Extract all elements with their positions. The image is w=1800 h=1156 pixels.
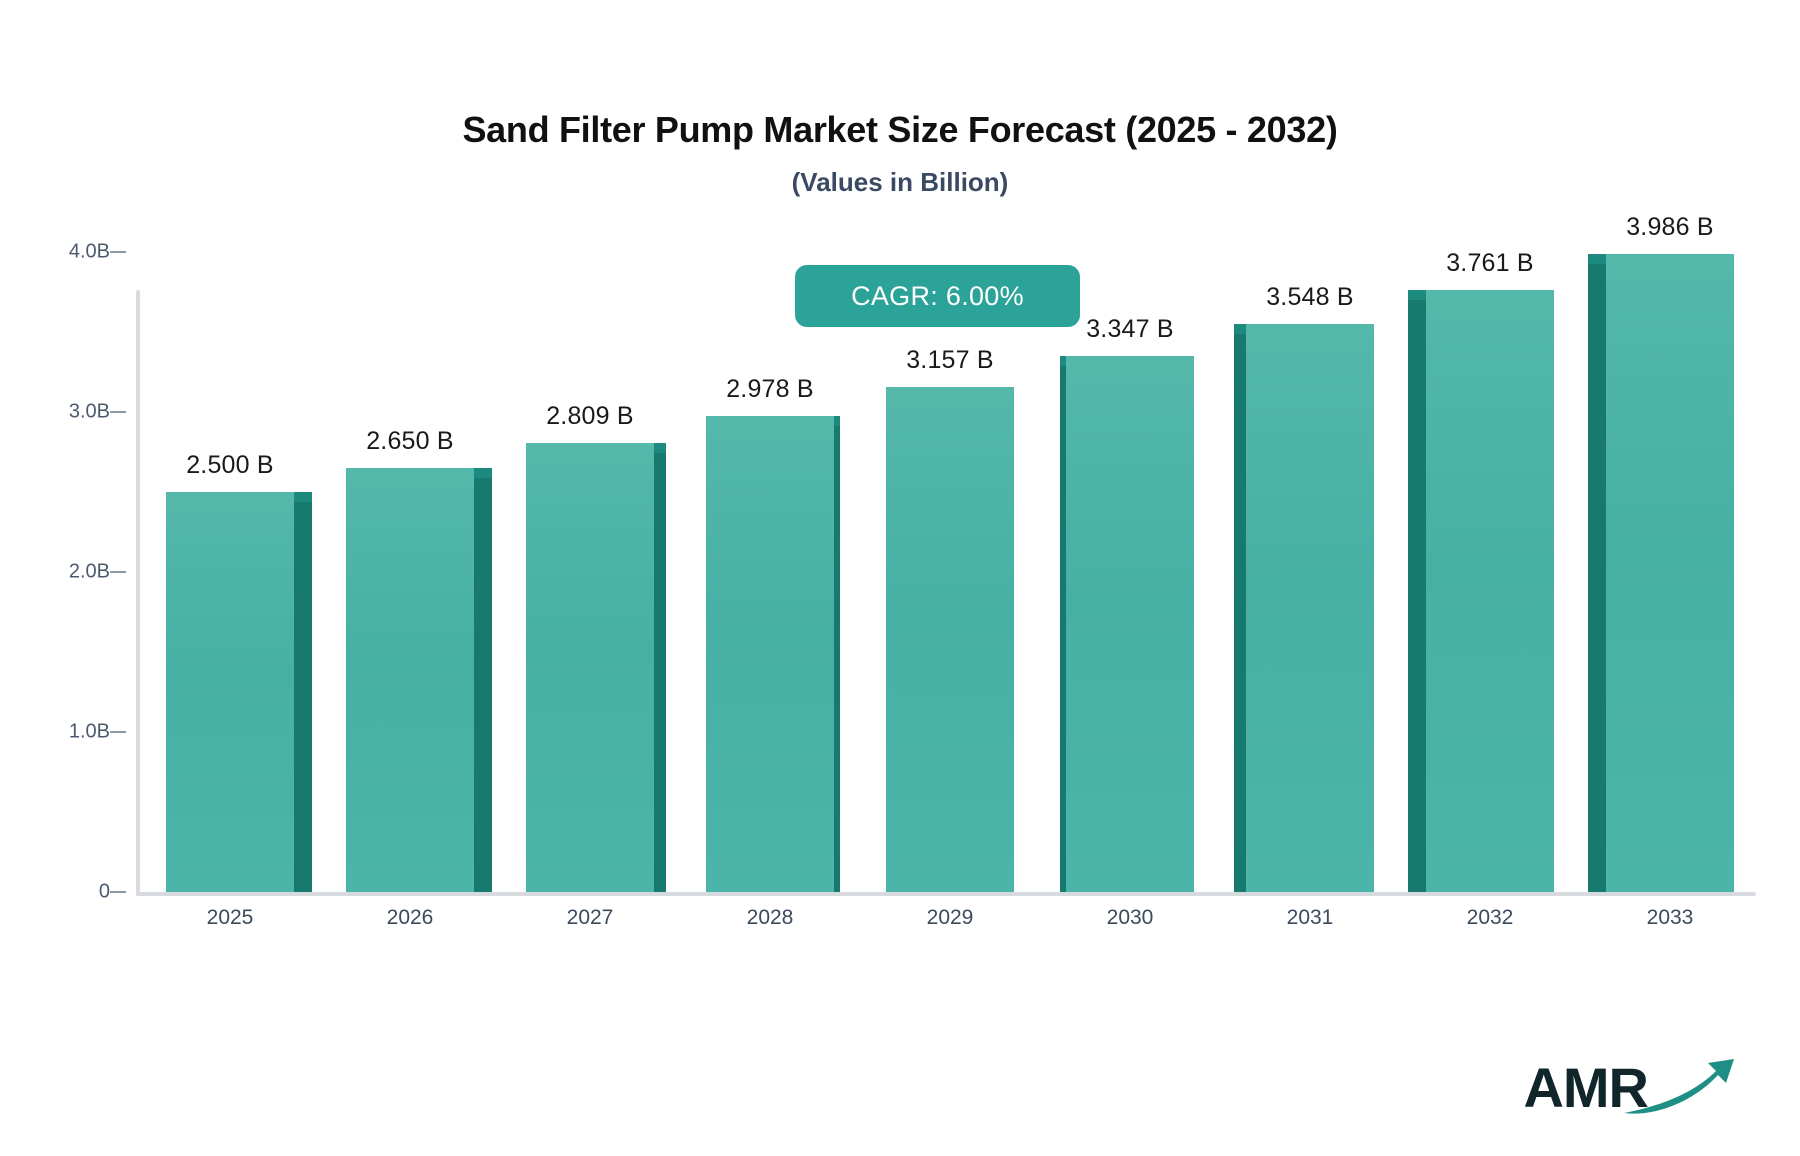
bar-top-bevel: [654, 443, 666, 453]
bar-value-label: 3.157 B: [886, 346, 1014, 375]
bar-top-bevel: [1060, 356, 1066, 366]
bar-front-face: [1606, 254, 1734, 892]
bar-top-bevel: [1234, 324, 1246, 334]
y-axis-tick-mark: [110, 891, 126, 893]
y-axis-tick-mark: [110, 251, 126, 253]
bar-top-bevel: [1408, 290, 1426, 300]
x-axis-tick-label: 2026: [350, 906, 470, 930]
x-axis-tick-label: 2033: [1610, 906, 1730, 930]
bar-side-face: [1408, 300, 1426, 892]
bar-2033: 3.986 B: [1606, 254, 1734, 892]
x-axis-tick-label: 2028: [710, 906, 830, 930]
y-axis-tick-label: 4.0B: [0, 241, 110, 264]
bar-side-face: [294, 502, 312, 892]
bar-side-face: [1060, 366, 1066, 892]
bar-top-bevel: [474, 468, 492, 478]
bar-side-face: [834, 426, 840, 892]
bar-side-face: [1234, 334, 1246, 892]
y-axis-tick-label: 1.0B: [0, 721, 110, 744]
x-axis-tick-label: 2027: [530, 906, 650, 930]
bar-2026: 2.650 B: [346, 468, 474, 892]
x-axis-tick-label: 2025: [170, 906, 290, 930]
bar-top-bevel: [834, 416, 840, 426]
growth-arrow-icon: [1622, 1057, 1752, 1124]
y-axis-tick-mark: [110, 731, 126, 733]
bar-series: 2.500 B2.650 B2.809 B2.978 B3.157 B3.347…: [140, 230, 1760, 892]
y-axis-tick-mark: [110, 411, 126, 413]
x-axis-tick-label: 2031: [1250, 906, 1370, 930]
x-axis-tick-label: 2029: [890, 906, 1010, 930]
y-axis-tick-mark: [110, 571, 126, 573]
bar-front-face: [1426, 290, 1554, 892]
bar-front-face: [166, 492, 294, 892]
bar-value-label: 3.986 B: [1606, 213, 1734, 242]
bar-side-face: [654, 453, 666, 892]
x-axis-line: [136, 892, 1756, 896]
bar-value-label: 2.978 B: [706, 375, 834, 404]
y-axis-tick-label: 0: [0, 881, 110, 904]
bar-side-face: [474, 478, 492, 892]
bar-front-face: [706, 416, 834, 892]
x-axis-tick-label: 2032: [1430, 906, 1550, 930]
bar-value-label: 2.500 B: [166, 451, 294, 480]
bar-2032: 3.761 B: [1426, 290, 1554, 892]
bar-2025: 2.500 B: [166, 492, 294, 892]
bar-value-label: 3.548 B: [1246, 283, 1374, 312]
bar-front-face: [346, 468, 474, 892]
bar-side-face: [1588, 264, 1606, 892]
x-axis-tick-label: 2030: [1070, 906, 1190, 930]
bar-top-bevel: [294, 492, 312, 502]
bar-2027: 2.809 B: [526, 443, 654, 892]
bar-front-face: [1246, 324, 1374, 892]
bar-value-label: 3.347 B: [1066, 315, 1194, 344]
bar-2029: 3.157 B: [886, 387, 1014, 892]
y-axis-tick-label: 2.0B: [0, 561, 110, 584]
bar-2031: 3.548 B: [1246, 324, 1374, 892]
y-axis-tick-label: 3.0B: [0, 401, 110, 424]
bar-2030: 3.347 B: [1066, 356, 1194, 892]
bar-value-label: 3.761 B: [1426, 249, 1554, 278]
bar-front-face: [1066, 356, 1194, 892]
bar-2028: 2.978 B: [706, 416, 834, 892]
bar-front-face: [886, 387, 1014, 892]
bar-top-bevel: [1588, 254, 1606, 264]
bar-value-label: 2.809 B: [526, 402, 654, 431]
amr-logo: AMR: [1523, 1051, 1752, 1124]
bar-front-face: [526, 443, 654, 892]
chart-plot-area: 4.0B3.0B2.0B1.0B0 2.500 B2.650 B2.809 B2…: [0, 0, 1800, 1156]
bar-value-label: 2.650 B: [346, 427, 474, 456]
